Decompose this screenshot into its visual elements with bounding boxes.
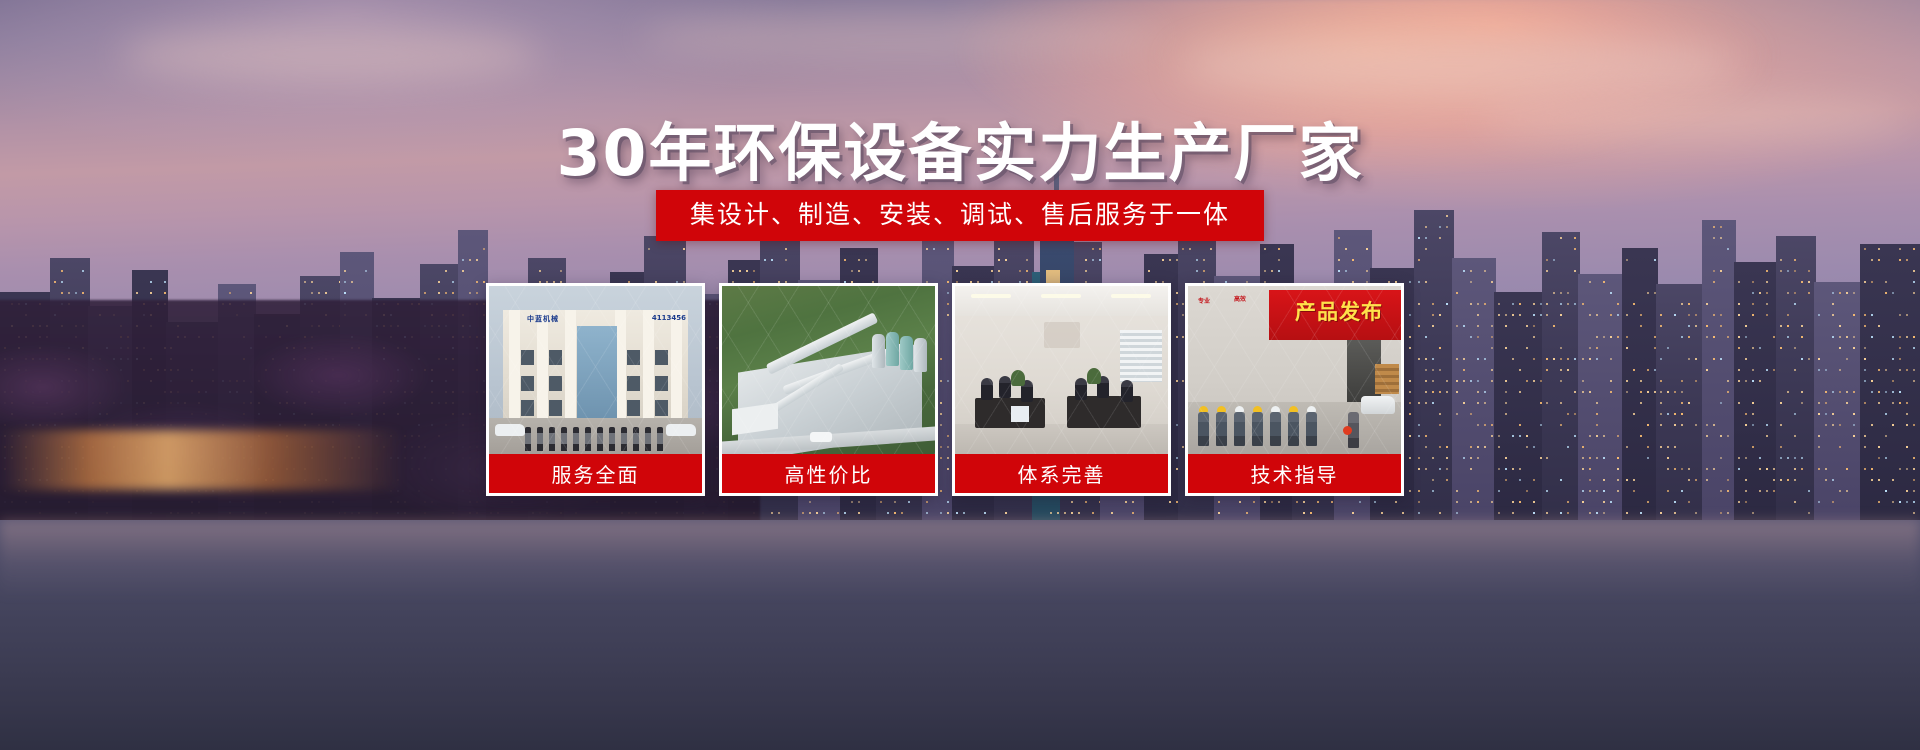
feature-card[interactable]: 中蓝机械 4113456	[486, 283, 705, 496]
hero-banner: 30年环保设备实力生产厂家 集设计、制造、安装、调试、售后服务于一体	[0, 0, 1920, 750]
card-caption-label: 技术指导	[1251, 459, 1339, 488]
card-caption-label: 高性价比	[785, 459, 873, 488]
card-caption-label: 服务全面	[552, 459, 640, 488]
card-caption: 技术指导	[1188, 454, 1401, 493]
card-photo: 产品发布 专业 高效	[1188, 286, 1401, 454]
card-photo	[722, 286, 935, 454]
card-photo	[955, 286, 1168, 454]
subtitle-badge: 集设计、制造、安装、调试、售后服务于一体	[656, 190, 1264, 241]
workshop-small-text-mid: 高效	[1234, 294, 1246, 303]
feature-card[interactable]: 体系完善	[952, 283, 1171, 496]
building-sign-text: 中蓝机械	[527, 314, 559, 324]
workshop-red-banner: 产品发布	[1269, 290, 1401, 340]
building-phone-text: 4113456	[652, 314, 686, 322]
workshop-small-text-left: 专业	[1198, 296, 1210, 305]
card-caption: 高性价比	[722, 454, 935, 493]
card-caption: 服务全面	[489, 454, 702, 493]
feature-card[interactable]: 产品发布 专业 高效	[1185, 283, 1404, 496]
subtitle-text: 集设计、制造、安装、调试、售后服务于一体	[690, 199, 1230, 230]
feature-card[interactable]: 高性价比	[719, 283, 938, 496]
card-caption: 体系完善	[955, 454, 1168, 493]
page-title: 30年环保设备实力生产厂家	[0, 103, 1920, 194]
card-caption-label: 体系完善	[1018, 459, 1106, 488]
workshop-banner-text: 产品发布	[1295, 296, 1383, 326]
card-photo: 中蓝机械 4113456	[489, 286, 702, 454]
feature-card-list: 中蓝机械 4113456	[486, 283, 1434, 496]
